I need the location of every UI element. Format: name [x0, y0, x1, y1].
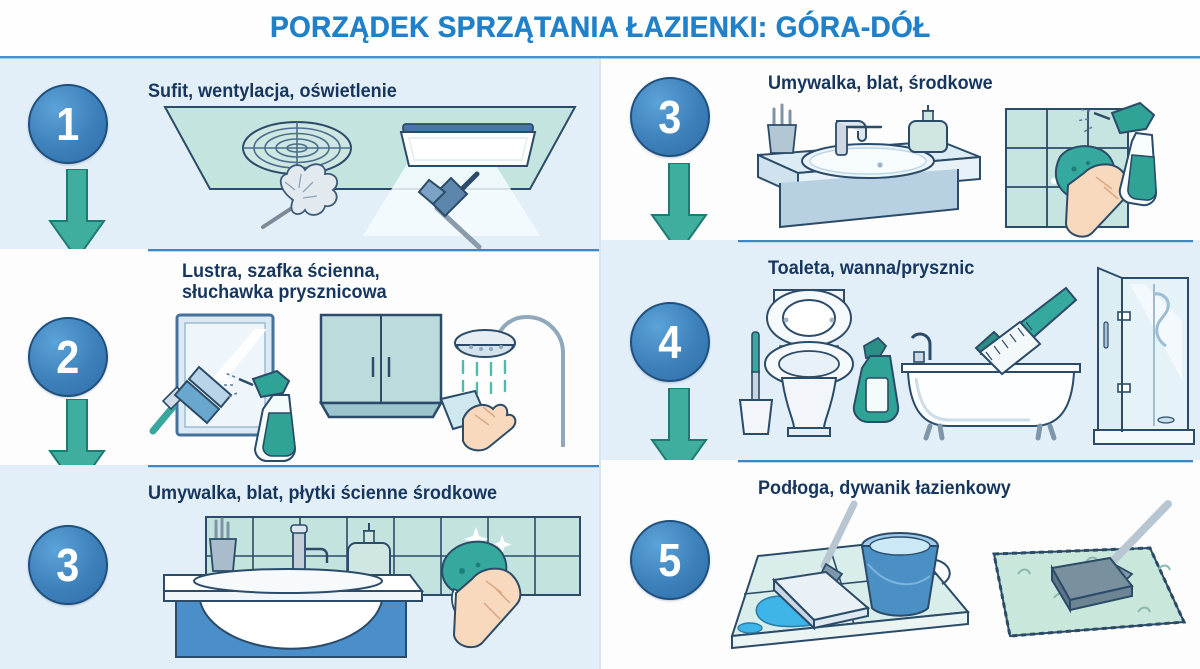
flow-arrow-4	[648, 388, 710, 460]
step-title-5: Podłoga, dywanik łazienkowy	[758, 478, 1167, 499]
section-divider-4	[738, 240, 1193, 243]
illustration-vanity-tiles	[160, 515, 600, 661]
section-divider-5	[738, 460, 1193, 463]
left-column: 1 Sufit, wentylacja, oświetlenie	[0, 59, 600, 669]
section-divider-2	[148, 249, 600, 252]
step-title-2: Lustra, szafka ścienna, słuchawka pryszn…	[182, 261, 581, 303]
page-title: PORZĄDEK SPRZĄTANIA ŁAZIENKI: GÓRA-DÓŁ	[270, 11, 930, 45]
flow-arrow-2	[46, 399, 108, 465]
step-panel-3: 3 Umywalka, blat, płytki ścienne środkow…	[0, 465, 600, 669]
step-number-r3: 3	[658, 94, 681, 140]
step-badge-4: 4	[630, 302, 710, 382]
illustration-toilet-bath-shower	[730, 260, 1200, 450]
section-divider-3	[148, 465, 600, 468]
step-number-1: 1	[56, 101, 79, 147]
column-divider	[599, 59, 601, 669]
step-number-2: 2	[56, 334, 79, 380]
infographic-canvas: PORZĄDEK SPRZĄTANIA ŁAZIENKI: GÓRA-DÓŁ 1…	[0, 0, 1200, 669]
step-number-4: 4	[658, 319, 681, 365]
step-badge-5: 5	[630, 520, 710, 600]
step-title-r3: Umywalka, blat, środkowe	[768, 73, 1167, 94]
illustration-ceiling	[145, 104, 595, 249]
flow-arrow-1	[46, 169, 108, 249]
step-number-3: 3	[56, 542, 79, 588]
step-badge-2: 2	[28, 317, 108, 397]
step-title-3: Umywalka, blat, płytki ścienne środkowe	[148, 483, 577, 504]
step-badge-r3: 3	[630, 77, 710, 157]
step-panel-2: 2 Lustra, szafka ścienna, słuchawka prys…	[0, 249, 600, 465]
illustration-countertop-tiles	[740, 99, 1190, 234]
flow-arrow-r3	[648, 163, 710, 240]
step-panel-1: 1 Sufit, wentylacja, oświetlenie	[0, 59, 600, 249]
step-badge-3: 3	[28, 525, 108, 605]
illustration-mirror-cabinet-shower	[145, 307, 600, 457]
step-number-5: 5	[658, 537, 681, 583]
step-badge-1: 1	[28, 84, 108, 164]
step-panel-5: 5 Podłoga, dywanik łazienkowy	[600, 460, 1200, 669]
title-bar: PORZĄDEK SPRZĄTANIA ŁAZIENKI: GÓRA-DÓŁ	[0, 0, 1200, 56]
step-title-1: Sufit, wentylacja, oświetlenie	[148, 81, 566, 102]
step-panel-4: 4 Toaleta, wanna/prysznic	[600, 240, 1200, 460]
illustration-floor-rug	[718, 504, 1198, 664]
right-column: 3 Umywalka, blat, środkowe	[600, 59, 1200, 669]
step-panel-r3: 3 Umywalka, blat, środkowe	[600, 59, 1200, 240]
